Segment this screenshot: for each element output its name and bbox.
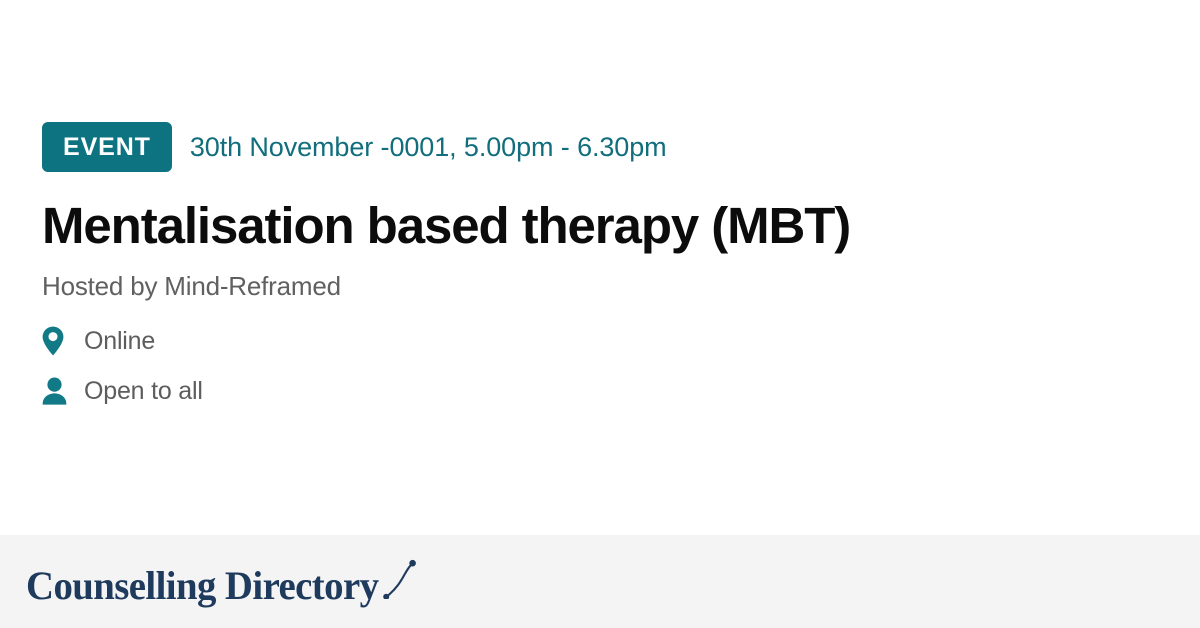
- flourish-swash-icon: [382, 557, 416, 604]
- event-meta-row: EVENT 30th November -0001, 5.00pm - 6.30…: [42, 122, 1200, 172]
- event-datetime: 30th November -0001, 5.00pm - 6.30pm: [190, 132, 667, 163]
- status-badge: EVENT: [42, 122, 172, 172]
- location-label: Online: [84, 327, 155, 356]
- audience-label: Open to all: [84, 377, 203, 406]
- page-title: Mentalisation based therapy (MBT): [42, 198, 1200, 253]
- map-pin-icon: [42, 326, 72, 356]
- event-detail-list: Online Open to all: [42, 324, 1200, 408]
- list-item-audience: Open to all: [42, 374, 1200, 408]
- event-content: EVENT 30th November -0001, 5.00pm - 6.30…: [0, 0, 1200, 535]
- event-host: Hosted by Mind-Reframed: [42, 271, 1200, 302]
- brand-logo[interactable]: Counselling Directory: [26, 557, 416, 606]
- list-item-location: Online: [42, 324, 1200, 358]
- person-icon: [42, 377, 72, 405]
- site-footer: Counselling Directory: [0, 535, 1200, 628]
- brand-wordmark: Counselling Directory: [26, 566, 378, 606]
- event-page: EVENT 30th November -0001, 5.00pm - 6.30…: [0, 0, 1200, 628]
